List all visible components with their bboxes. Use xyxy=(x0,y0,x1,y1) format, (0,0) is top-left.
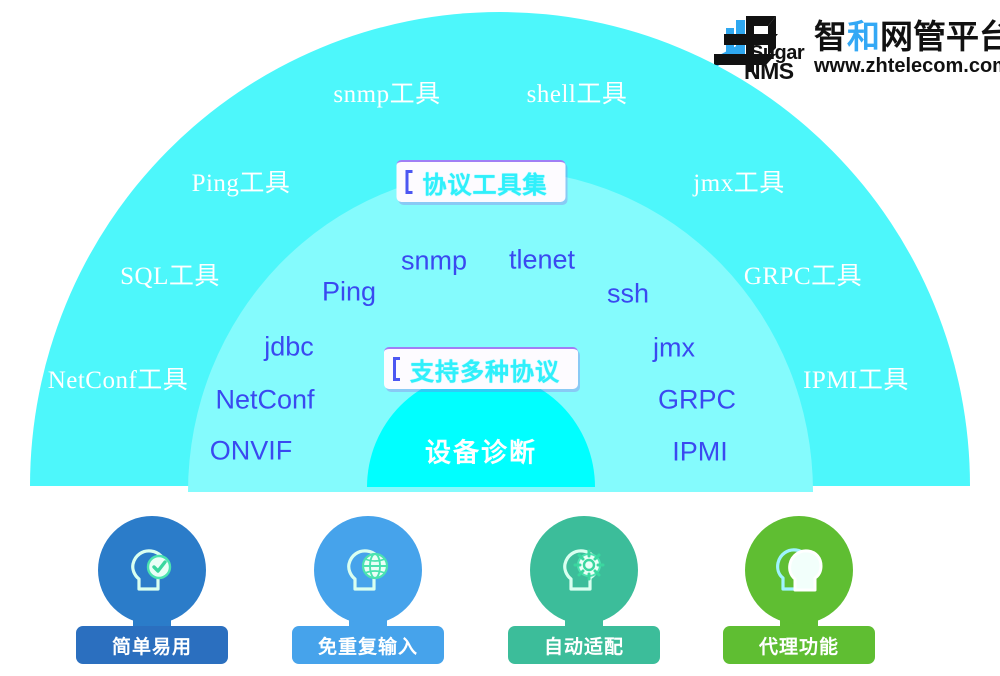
feature-card-label: 代理功能 xyxy=(723,626,875,664)
logo-wordmark: 智和网管平台 www.zhtelecom.com xyxy=(814,20,1000,76)
ribbon-badge-label: 支持多种协议 xyxy=(410,352,560,387)
ribbon-badge: 支持多种协议 xyxy=(384,347,578,389)
feature-card[interactable]: 免重复输入 xyxy=(292,516,444,666)
brand-logo: Sugar NMS 智和网管平台 www.zhtelecom.com xyxy=(706,12,990,84)
feature-card-label: 自动适配 xyxy=(508,626,660,664)
brand-name-accent-char: 和 xyxy=(847,18,880,55)
head-globe-icon xyxy=(314,516,422,624)
diagram-canvas: Sugar NMS 智和网管平台 www.zhtelecom.com snmp工… xyxy=(0,0,1000,676)
ribbon-badge-label: 协议工具集 xyxy=(423,165,548,200)
feature-card[interactable]: 自动适配 xyxy=(508,516,660,666)
brand-name-cn: 智和网管平台 xyxy=(814,20,1000,53)
feature-card[interactable]: 代理功能 xyxy=(723,516,875,666)
feature-card-label: 免重复输入 xyxy=(292,626,444,664)
head-gear-icon xyxy=(530,516,638,624)
feature-card-label: 简单易用 xyxy=(76,626,228,664)
ribbon-badge: 协议工具集 xyxy=(397,160,566,202)
logo-nms-text: NMS xyxy=(744,58,794,85)
brand-url: www.zhtelecom.com xyxy=(814,56,1000,76)
feature-card[interactable]: 简单易用 xyxy=(76,516,228,666)
head-check-icon xyxy=(98,516,206,624)
feature-card-row: 简单易用 免重复输入 自动适配 xyxy=(0,516,1000,666)
head-duo-icon xyxy=(745,516,853,624)
